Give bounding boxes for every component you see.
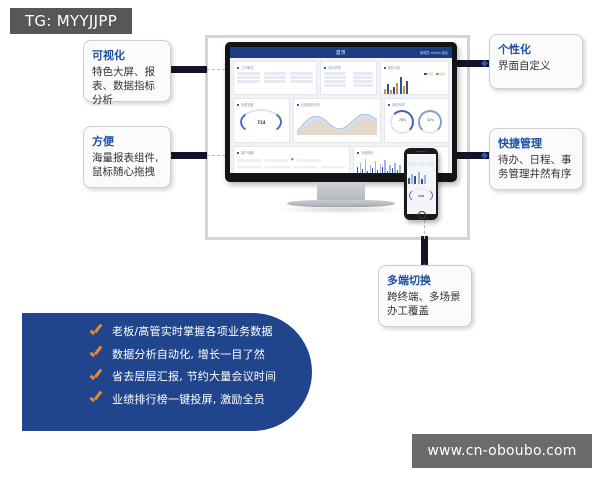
benefit-text: 省去层层汇报, 节约大量会议时间 [112,370,276,384]
phone-kpi [408,162,416,166]
donut-chart-b: 32% [418,110,442,134]
card-metric-row [237,72,313,75]
benefit-text: 业绩排行榜一键投屏, 激励全员 [112,393,265,407]
dashboard-user-label: 管理员 admin 退出 [420,50,448,55]
card-title: 客户明细 [237,150,346,155]
list-item: 数据分析自动化, 增长一目了然 [90,348,312,362]
todo-row [324,80,373,83]
card-metric-row [237,76,313,79]
callout-body: 海量报表组件, 鼠标随心拖拽 [92,151,162,179]
gauge-chart: 724 [240,109,282,135]
phone-home-button[interactable] [418,211,426,219]
todo-row [324,76,373,79]
benefits-list: 老板/高管实时掌握各项业务数据 数据分析自动化, 增长一目了然 省去层层汇报, … [22,313,312,407]
telegram-watermark: TG: MYYJJPP [10,8,132,34]
phone-speaker [416,151,426,152]
legend-actual: 实际 [436,72,445,76]
callout-multi-device[interactable]: 多端切换 跨终端、多场景办工覆盖 [378,265,472,327]
gauge-value: 724 [242,120,280,125]
phone-kpi [426,162,434,166]
card-target-donuts[interactable]: 目标完成 78% 32% [384,98,449,143]
card-title: 完成进度 [237,102,286,107]
benefit-text: 数据分析自动化, 增长一目了然 [112,348,265,362]
table-alert-tag: ● [291,157,294,164]
area-chart-svg [297,109,377,135]
dashboard-header: 首页 管理员 admin 退出 [230,47,452,58]
callout-body: 待办、日程、事务管理井然有序 [498,153,574,181]
callout-title: 快捷管理 [498,136,574,151]
check-icon [90,350,103,359]
callout-title: 多端切换 [387,273,463,288]
list-item: 业绩排行榜一键投屏, 激励全员 [90,393,312,407]
card-title: 业绩趋势分析 [297,102,377,107]
callout-title: 方便 [92,134,162,149]
callout-body: 特色大屏、报表、数据指标分析 [92,65,162,107]
check-icon [90,328,103,337]
monitor-shadow [277,205,407,214]
phone-screen: 724 [407,154,436,214]
card-title: 销售分析 [384,65,445,70]
list-item: 省去层层汇报, 节约大量会议时间 [90,370,312,384]
benefit-text: 老板/高管实时掌握各项业务数据 [112,325,273,339]
card-metric-row [237,80,313,83]
callout-title: 个性化 [498,42,574,57]
callout-title: 可视化 [92,48,162,63]
todo-row [324,72,373,75]
phone-kpi [417,162,425,166]
area-chart [297,109,377,135]
callout-body: 界面自定义 [498,59,574,73]
card-title: 工作概览 [237,65,313,70]
dashboard-row-1: 工作概览 待办事项 [233,61,449,95]
callout-body: 跨终端、多场景办工覆盖 [387,290,463,318]
poster-canvas: TG: MYYJJPP 首页 管理员 admin 退出 [0,0,600,480]
callout-quick-management[interactable]: 快捷管理 待办、日程、事务管理井然有序 [489,128,583,190]
callout-visualization[interactable]: 可视化 特色大屏、报表、数据指标分析 [83,40,171,102]
dashboard-title: 首页 [336,50,346,56]
monitor-neck [317,182,365,202]
bar-chart [384,76,445,94]
card-todo[interactable]: 待办事项 [320,61,377,95]
site-url-watermark: www.cn-oboubo.com [412,434,592,468]
card-customer-table[interactable]: 客户明细 ● [233,146,350,173]
phone-gauge-value: 724 [410,194,432,198]
dashboard-row-2: 完成进度 724 业绩趋势分析 [233,98,449,143]
donut-chart-a: 78% [390,110,414,134]
legend-plan: 计划 [424,72,433,76]
phone-bar-chart [408,170,434,184]
card-sales-analysis[interactable]: 销售分析 计划 实际 [380,61,449,95]
card-work-overview[interactable]: 工作概览 [233,61,317,95]
donut-value-b: 32% [420,118,440,122]
todo-row [324,84,373,87]
list-item: 老板/高管实时掌握各项业务数据 [90,325,312,339]
donut-value-a: 78% [392,118,412,122]
phone-gauge: 724 [409,188,433,203]
mobile-phone-mockup: 724 [404,148,438,220]
check-icon [90,395,103,404]
callout-convenient[interactable]: 方便 海量报表组件, 鼠标随心拖拽 [83,126,171,188]
card-trend-area[interactable]: 业绩趋势分析 [293,98,381,143]
phone-row [408,157,434,159]
benefits-panel: 老板/高管实时掌握各项业务数据 数据分析自动化, 增长一目了然 省去层层汇报, … [22,313,312,431]
card-title: 目标完成 [388,102,445,107]
callout-personalization[interactable]: 个性化 界面自定义 [489,34,583,89]
card-title: 待办事项 [324,65,373,70]
card-progress-gauge[interactable]: 完成进度 724 [233,98,290,143]
check-icon [90,373,103,382]
